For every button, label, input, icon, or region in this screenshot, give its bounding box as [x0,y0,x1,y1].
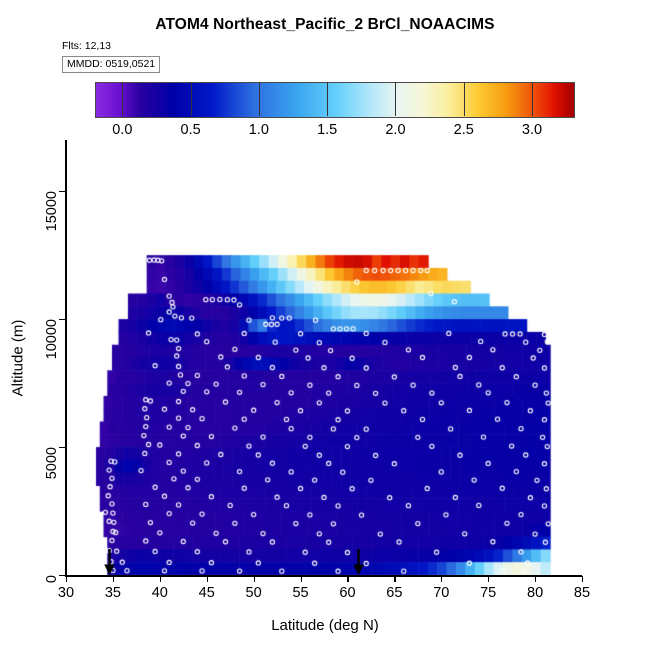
x-tick [347,576,348,582]
x-tick [582,576,583,582]
x-tick [488,576,489,582]
latitude-arrow-marker [352,549,365,575]
x-tick-label: 40 [152,585,168,601]
x-tick-label: 80 [527,585,543,601]
x-tick-label: 45 [199,585,215,601]
chart-root: ATOM4 Northeast_Pacific_2 BrCl_NOAACIMS … [0,0,650,650]
x-tick [441,576,442,582]
x-tick [394,576,395,582]
x-tick-label: 85 [574,585,590,601]
y-tick-label: 15000 [44,191,60,231]
y-axis-line [65,140,67,576]
x-tick-label: 35 [105,585,121,601]
x-tick [160,576,161,582]
x-axis-label: Latitude (deg N) [0,617,650,634]
y-tick-label: 5000 [44,447,60,479]
x-tick [207,576,208,582]
x-tick [113,576,114,582]
x-tick-label: 65 [386,585,402,601]
x-tick [66,576,67,582]
x-tick-label: 50 [246,585,262,601]
x-tick [535,576,536,582]
y-tick-label: 0 [44,575,60,583]
y-tick-label: 10000 [44,319,60,359]
x-tick-label: 55 [292,585,308,601]
x-tick-label: 60 [339,585,355,601]
x-tick-label: 30 [58,585,74,601]
heatmap-canvas [0,0,650,650]
x-tick [254,576,255,582]
y-axis-label: Altitude (m) [10,320,27,397]
x-tick-label: 75 [480,585,496,601]
x-tick-label: 70 [433,585,449,601]
x-tick [301,576,302,582]
latitude-arrow-marker [103,549,116,575]
x-axis-line [65,575,582,577]
